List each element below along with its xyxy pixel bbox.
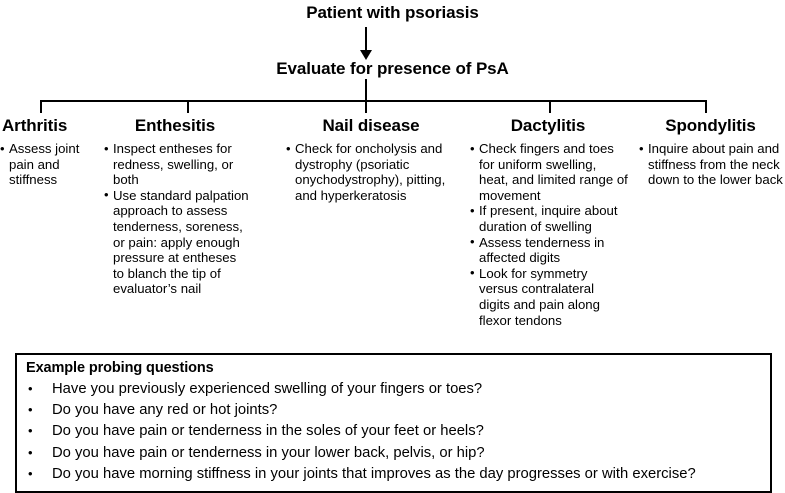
connector-drop-enthesitis [187,100,189,113]
column-nail-disease: Nail disease Check for oncholysis and dy… [285,115,457,203]
column-heading-nail-disease: Nail disease [285,115,457,136]
question-list: Have you previously experienced swelling… [26,379,766,485]
list-item: Inspect entheses for redness, swelling, … [104,141,250,188]
list-item: Do you have pain or tenderness in your l… [26,443,766,464]
list-item: Assess tenderness in affected digits [470,235,628,266]
list-item: Check for oncholysis and dystrophy (psor… [286,141,457,203]
node-evaluate-for-presence-of-psa: Evaluate for presence of PsA [0,59,785,79]
list-item: Check fingers and toes for uniform swell… [470,141,628,203]
list-item: Do you have any red or hot joints? [26,400,766,421]
connector-drop-spondylitis [705,100,707,113]
connector-evaluate-to-bus [365,79,367,102]
arrow-head-root-to-evaluate [360,50,372,60]
column-heading-arthritis: Arthritis [0,115,96,136]
list-item: If present, inquire about duration of sw… [470,203,628,234]
column-enthesitis: Enthesitis Inspect entheses for redness,… [100,115,250,297]
column-list-nail-disease: Check for oncholysis and dystrophy (psor… [286,141,457,203]
list-item: Assess joint pain and stiffness [0,141,96,188]
list-item: Do you have morning stiffness in your jo… [26,464,766,485]
column-arthritis: Arthritis Assess joint pain and stiffnes… [0,115,96,188]
column-heading-dactylitis: Dactylitis [468,115,628,136]
column-dactylitis: Dactylitis Check fingers and toes for un… [468,115,628,328]
example-probing-questions-box: Example probing questions Have you previ… [15,353,772,493]
connector-drop-nail-disease [365,100,367,113]
list-item: Do you have pain or tenderness in the so… [26,421,766,442]
column-list-arthritis: Assess joint pain and stiffness [0,141,96,188]
list-item: Inquire about pain and stiffness from th… [639,141,785,188]
connector-horizontal-bus [40,100,707,102]
column-heading-enthesitis: Enthesitis [100,115,250,136]
column-heading-spondylitis: Spondylitis [636,115,785,136]
column-list-spondylitis: Inquire about pain and stiffness from th… [639,141,785,188]
connector-drop-arthritis [40,100,42,113]
connector-drop-dactylitis [549,100,551,113]
question-box-title: Example probing questions [26,359,214,377]
page-title-patient-with-psoriasis: Patient with psoriasis [0,3,785,23]
column-spondylitis: Spondylitis Inquire about pain and stiff… [636,115,785,188]
list-item: Use standard palpation approach to asses… [104,188,250,297]
list-item: Look for symmetry versus contralateral d… [470,266,628,328]
list-item: Have you previously experienced swelling… [26,379,766,400]
column-list-dactylitis: Check fingers and toes for uniform swell… [470,141,628,328]
column-list-enthesitis: Inspect entheses for redness, swelling, … [104,141,250,297]
